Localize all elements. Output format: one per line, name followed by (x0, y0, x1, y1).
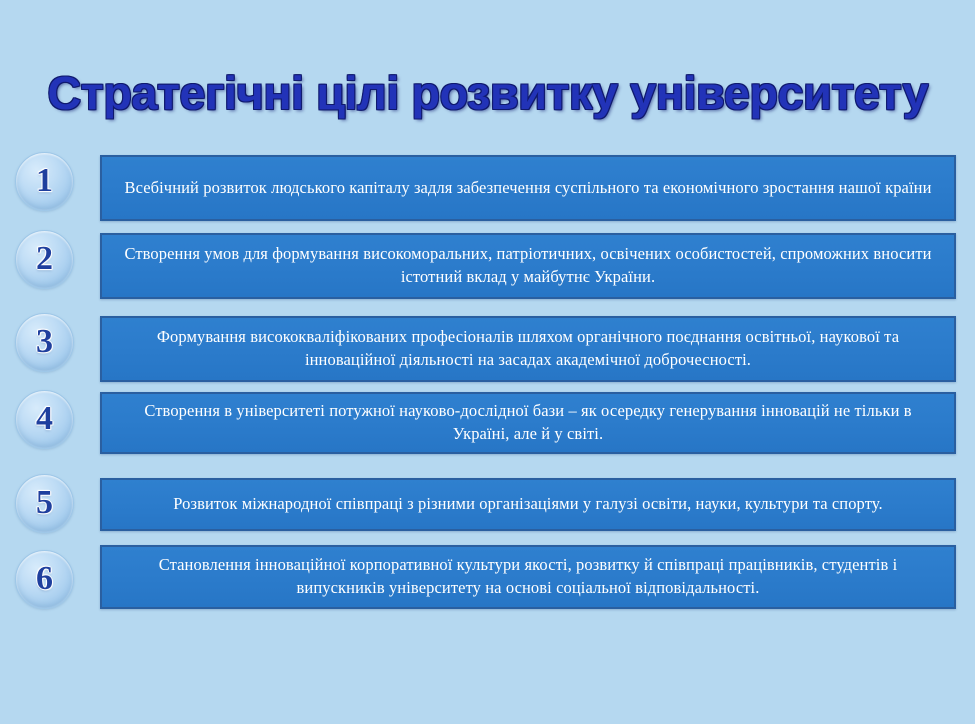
goal-number-badge-3: 3 (15, 313, 74, 372)
strategic-goals-list: 1 Всебічний розвиток людського капіталу … (0, 0, 975, 724)
goal-number-4: 4 (36, 402, 53, 436)
goal-text-2: Створення умов для формування високомора… (116, 243, 940, 289)
goal-bar-6: Становлення інноваційної корпоративної к… (100, 545, 956, 609)
goal-bar-3: Формування висококваліфікованих професіо… (100, 316, 956, 382)
goal-number-badge-1: 1 (15, 152, 74, 211)
goal-number-badge-6: 6 (15, 550, 74, 609)
goal-text-6: Становлення інноваційної корпоративної к… (116, 554, 940, 600)
goal-number-badge-2: 2 (15, 230, 74, 289)
goal-number-2: 2 (36, 242, 53, 276)
goal-number-3: 3 (36, 325, 53, 359)
goal-number-1: 1 (36, 164, 53, 198)
goal-text-4: Створення в університеті потужної науков… (116, 400, 940, 446)
goal-bar-5: Розвиток міжнародної співпраці з різними… (100, 478, 956, 531)
goal-bar-1: Всебічний розвиток людського капіталу за… (100, 155, 956, 221)
goal-number-5: 5 (36, 486, 53, 520)
goal-number-badge-4: 4 (15, 390, 74, 449)
goal-number-6: 6 (36, 562, 53, 596)
goal-text-5: Розвиток міжнародної співпраці з різними… (116, 493, 940, 516)
goal-bar-4: Створення в університеті потужної науков… (100, 392, 956, 454)
goal-text-1: Всебічний розвиток людського капіталу за… (116, 177, 940, 200)
goal-text-3: Формування висококваліфікованих професіо… (116, 326, 940, 372)
goal-number-badge-5: 5 (15, 474, 74, 533)
goal-bar-2: Створення умов для формування високомора… (100, 233, 956, 299)
presentation-slide: Стратегічні цілі розвитку університету 1… (0, 0, 975, 724)
